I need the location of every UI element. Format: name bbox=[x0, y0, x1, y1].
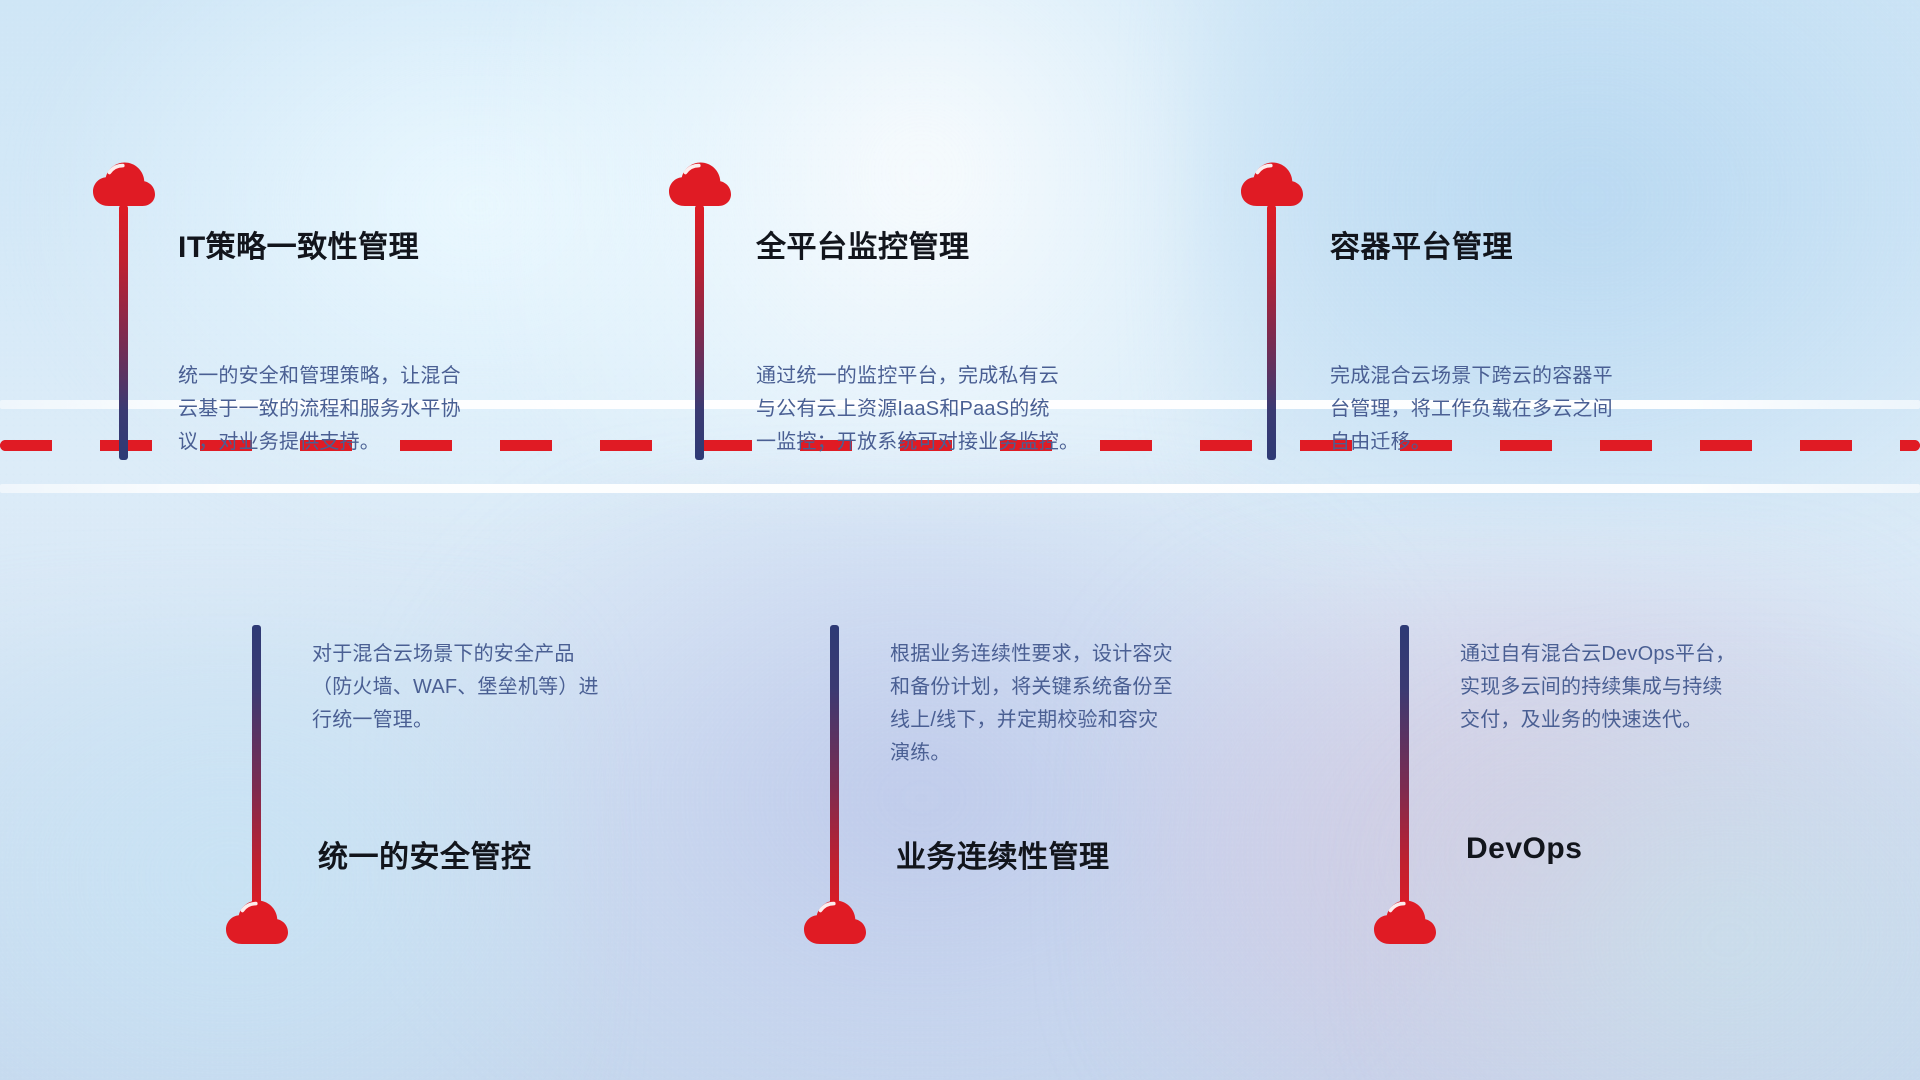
milestone-body: 完成混合云场景下跨云的容器平 台管理，将工作负载在多云之间 自由迁移。 bbox=[1330, 360, 1685, 459]
milestone-heading: 全平台监控管理 bbox=[756, 222, 970, 266]
milestone-body: 对于混合云场景下的安全产品 （防火墙、WAF、堡垒机等）进 行统一管理。 bbox=[312, 638, 667, 737]
milestone-body: 通过统一的监控平台，完成私有云 与公有云上资源IaaS和PaaS的统 一监控；开… bbox=[756, 360, 1136, 459]
timeline-stem bbox=[252, 625, 261, 915]
cloud-icon bbox=[225, 898, 289, 948]
milestone-body: 根据业务连续性要求，设计容灾 和备份计划，将关键系统备份至 线上/线下，并定期校… bbox=[890, 638, 1280, 770]
body-line: （防火墙、WAF、堡垒机等）进 bbox=[312, 671, 667, 704]
divider-rail-bottom bbox=[0, 484, 1920, 493]
timeline-stem bbox=[1267, 205, 1276, 460]
body-line: 一监控；开放系统可对接业务监控。 bbox=[756, 426, 1136, 459]
body-line: 通过自有混合云DevOps平台， bbox=[1460, 638, 1850, 671]
cloud-icon bbox=[803, 898, 867, 948]
body-line: 线上/线下，并定期校验和容灾 bbox=[890, 704, 1280, 737]
cloud-icon bbox=[1373, 898, 1437, 948]
body-line: 完成混合云场景下跨云的容器平 bbox=[1330, 360, 1685, 393]
timeline-stem bbox=[119, 205, 128, 460]
milestone-body: 统一的安全和管理策略，让混合 云基于一致的流程和服务水平协 议，对业务提供支持。 bbox=[178, 360, 533, 459]
body-line: 自由迁移。 bbox=[1330, 426, 1685, 459]
body-line: 云基于一致的流程和服务水平协 bbox=[178, 393, 533, 426]
body-line: 通过统一的监控平台，完成私有云 bbox=[756, 360, 1136, 393]
body-line: 议，对业务提供支持。 bbox=[178, 426, 533, 459]
milestone-heading: DevOps bbox=[1466, 832, 1582, 866]
milestone-heading: IT策略一致性管理 bbox=[178, 222, 419, 266]
body-line: 台管理，将工作负载在多云之间 bbox=[1330, 393, 1685, 426]
body-line: 统一的安全和管理策略，让混合 bbox=[178, 360, 533, 393]
milestone-body: 通过自有混合云DevOps平台， 实现多云间的持续集成与持续 交付，及业务的快速… bbox=[1460, 638, 1850, 737]
timeline-stem bbox=[695, 205, 704, 460]
body-line: 和备份计划，将关键系统备份至 bbox=[890, 671, 1280, 704]
timeline-stem bbox=[830, 625, 839, 915]
milestone-heading: 统一的安全管控 bbox=[318, 832, 532, 876]
milestone-heading: 业务连续性管理 bbox=[896, 832, 1110, 876]
body-line: 演练。 bbox=[890, 737, 1280, 770]
body-line: 交付，及业务的快速迭代。 bbox=[1460, 704, 1850, 737]
body-line: 行统一管理。 bbox=[312, 704, 667, 737]
body-line: 根据业务连续性要求，设计容灾 bbox=[890, 638, 1280, 671]
cloud-icon bbox=[92, 160, 156, 210]
body-line: 实现多云间的持续集成与持续 bbox=[1460, 671, 1850, 704]
body-line: 与公有云上资源IaaS和PaaS的统 bbox=[756, 393, 1136, 426]
milestone-heading: 容器平台管理 bbox=[1330, 222, 1513, 266]
cloud-icon bbox=[1240, 160, 1304, 210]
cloud-icon bbox=[668, 160, 732, 210]
timeline-stem bbox=[1400, 625, 1409, 915]
body-line: 对于混合云场景下的安全产品 bbox=[312, 638, 667, 671]
